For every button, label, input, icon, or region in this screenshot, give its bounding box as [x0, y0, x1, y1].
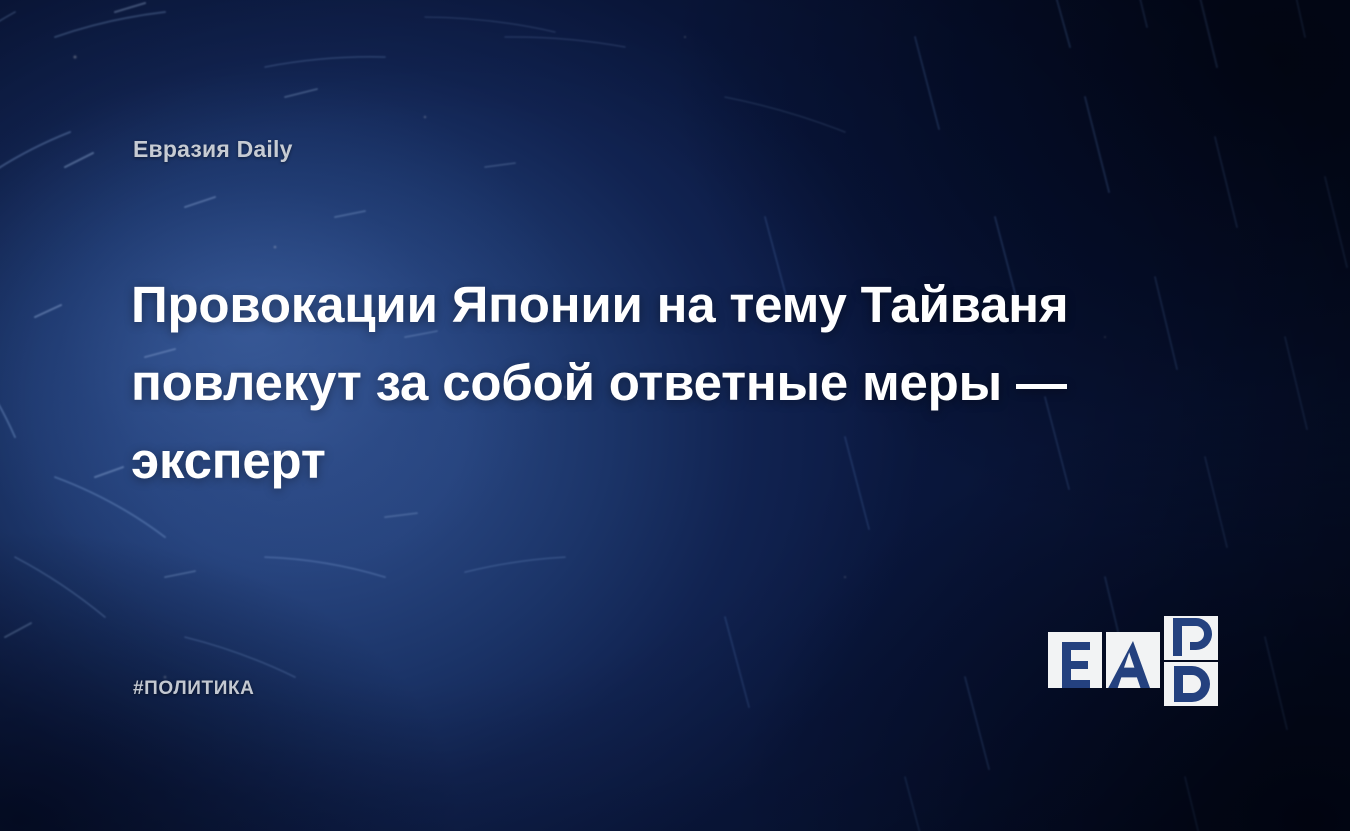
headline: Провокации Японии на тему Тайваня повлек…: [131, 266, 1141, 500]
card-content: Евразия Daily Провокации Японии на тему …: [0, 0, 1350, 831]
social-share-card: Евразия Daily Провокации Японии на тему …: [0, 0, 1350, 831]
eadaily-logo: [1046, 614, 1232, 706]
site-name: Евразия Daily: [133, 136, 293, 163]
category-tag: #ПОЛИТИКА: [133, 678, 255, 700]
